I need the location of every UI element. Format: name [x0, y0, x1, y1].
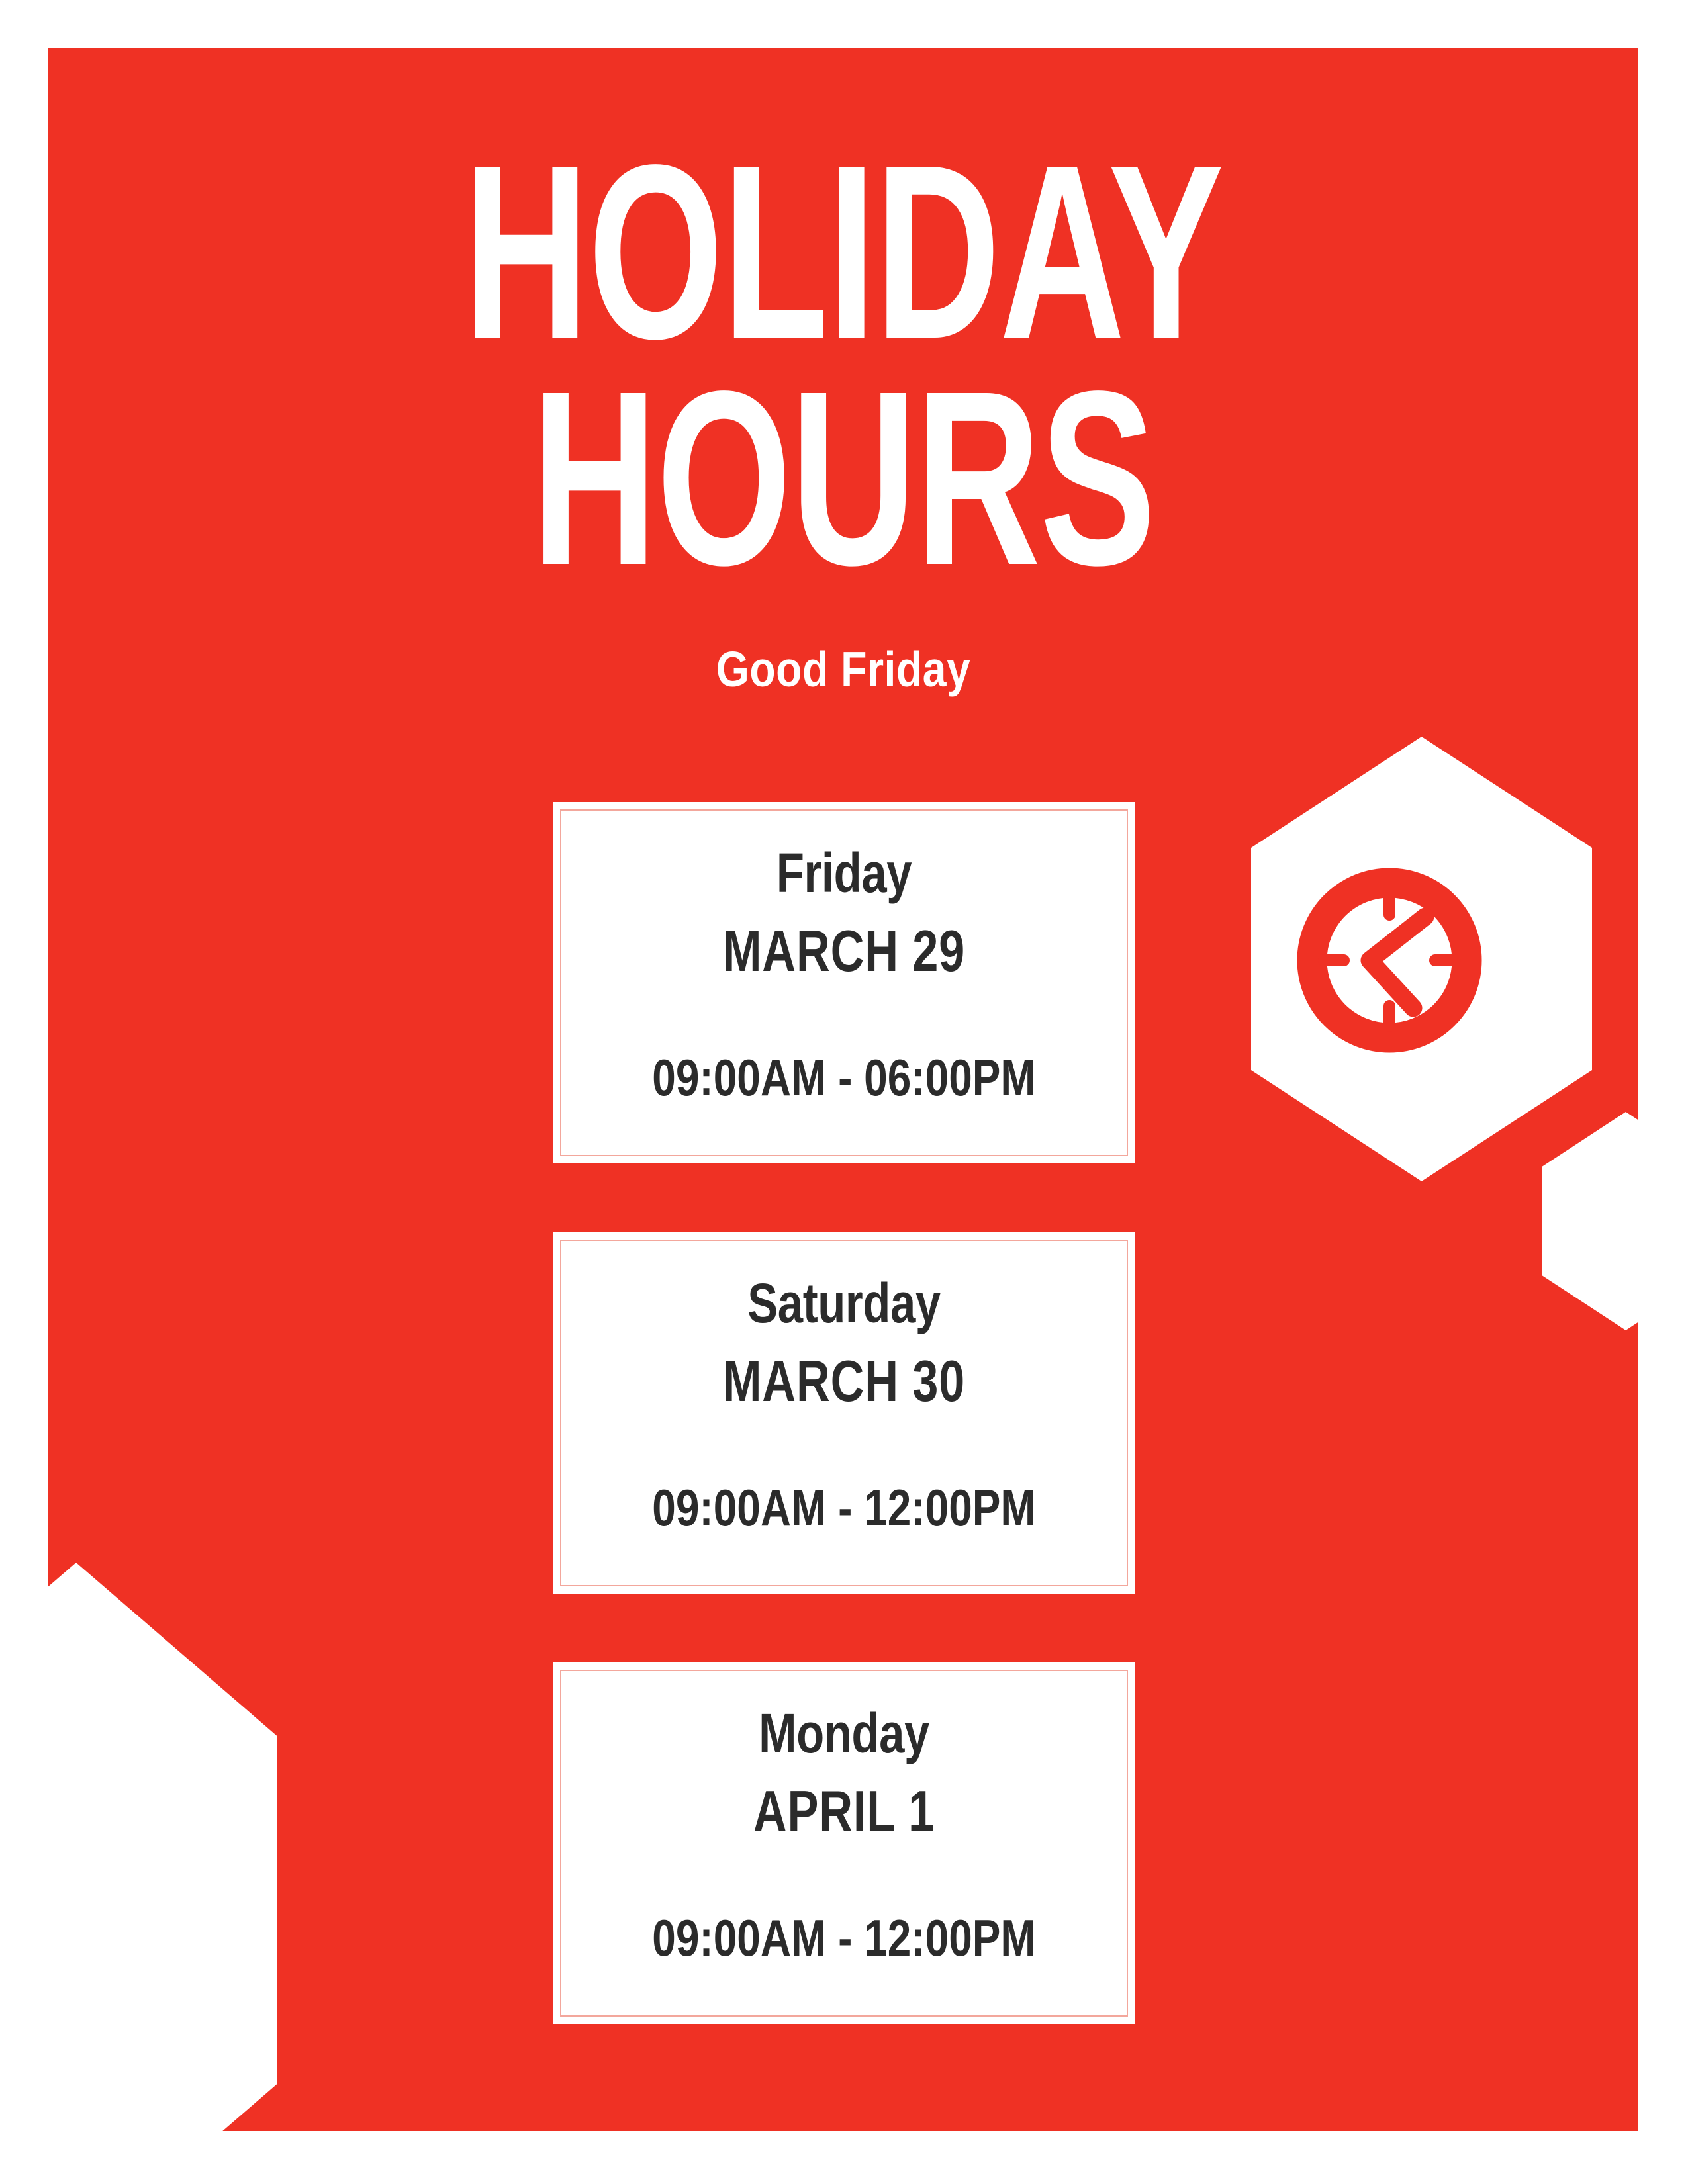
card-date-label: APRIL 1 [611, 1782, 1077, 1841]
page-title-line-1: HOLIDAY [287, 134, 1399, 370]
card-hours-label: 09:00AM - 12:00PM [605, 1912, 1083, 1964]
card-day-label: Friday [605, 845, 1083, 901]
clock-icon [1290, 861, 1489, 1060]
red-background-panel: HOLIDAY HOURS Good Friday Friday MARCH 2… [48, 48, 1638, 2131]
card-body: Friday MARCH 29 09:00AM - 06:00PM [553, 845, 1135, 1103]
hexagon-icon-corner [48, 1563, 277, 2131]
card-body: Saturday MARCH 30 09:00AM - 12:00PM [553, 1275, 1135, 1533]
card-hours-label: 09:00AM - 12:00PM [605, 1482, 1083, 1533]
schedule-card: Saturday MARCH 30 09:00AM - 12:00PM [553, 1232, 1135, 1594]
card-day-label: Monday [605, 1706, 1083, 1761]
hexagon-icon-small [1542, 1112, 1638, 1330]
card-body: Monday APRIL 1 09:00AM - 12:00PM [553, 1706, 1135, 1964]
card-day-label: Saturday [605, 1275, 1083, 1331]
page-title-line-2: HOURS [287, 361, 1399, 596]
schedule-card: Monday APRIL 1 09:00AM - 12:00PM [553, 1662, 1135, 2024]
subtitle: Good Friday [160, 641, 1527, 698]
schedule-card: Friday MARCH 29 09:00AM - 06:00PM [553, 802, 1135, 1163]
card-hours-label: 09:00AM - 06:00PM [605, 1052, 1083, 1103]
card-date-label: MARCH 29 [611, 922, 1077, 980]
holiday-hours-poster: HOLIDAY HOURS Good Friday Friday MARCH 2… [0, 0, 1688, 2184]
card-date-label: MARCH 30 [611, 1352, 1077, 1410]
